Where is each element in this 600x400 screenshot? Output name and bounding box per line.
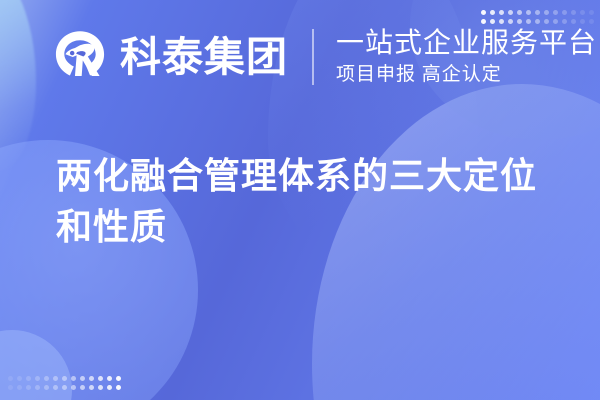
decorative-dot — [71, 385, 76, 390]
decorative-dot — [62, 385, 67, 390]
decorative-dot — [71, 376, 76, 381]
banner-header: 科泰集团 一站式企业服务平台 项目申报 高企认定 — [0, 0, 600, 114]
decorative-dot — [89, 376, 94, 381]
headline-title: 两化融合管理体系的三大定位和性质 — [56, 150, 556, 252]
decorative-dot — [8, 376, 13, 381]
decorative-dot — [8, 385, 13, 390]
slogan-secondary: 项目申报 高企认定 — [336, 65, 597, 86]
decorative-dot — [80, 376, 85, 381]
brand-name: 科泰集团 — [120, 37, 288, 78]
slogan-primary: 一站式企业服务平台 — [336, 28, 597, 59]
decorative-dot — [62, 376, 67, 381]
decorative-dot — [89, 385, 94, 390]
promo-banner: 科泰集团 一站式企业服务平台 项目申报 高企认定 两化融合管理体系的三大定位和性… — [0, 0, 600, 400]
decorative-dot — [98, 376, 103, 381]
decorative-dot — [35, 385, 40, 390]
decorative-dot — [44, 385, 49, 390]
header-divider — [312, 29, 314, 85]
dot-grid-bottom-left — [8, 376, 121, 390]
decorative-dot — [98, 385, 103, 390]
decorative-dot — [26, 376, 31, 381]
decorative-dot — [116, 385, 121, 390]
decorative-dot — [44, 376, 49, 381]
decorative-dot — [107, 385, 112, 390]
decorative-dot — [26, 385, 31, 390]
decorative-dot — [53, 376, 58, 381]
decorative-dot — [116, 376, 121, 381]
decorative-dot — [107, 376, 112, 381]
ketai-circular-logo-icon — [52, 29, 108, 85]
decorative-dot — [17, 385, 22, 390]
dot-row — [8, 376, 121, 381]
decorative-dot — [35, 376, 40, 381]
decorative-dot — [80, 385, 85, 390]
decorative-dot — [53, 385, 58, 390]
decorative-dot — [17, 376, 22, 381]
slogan-block: 一站式企业服务平台 项目申报 高企认定 — [336, 28, 597, 85]
dot-row — [8, 385, 121, 390]
